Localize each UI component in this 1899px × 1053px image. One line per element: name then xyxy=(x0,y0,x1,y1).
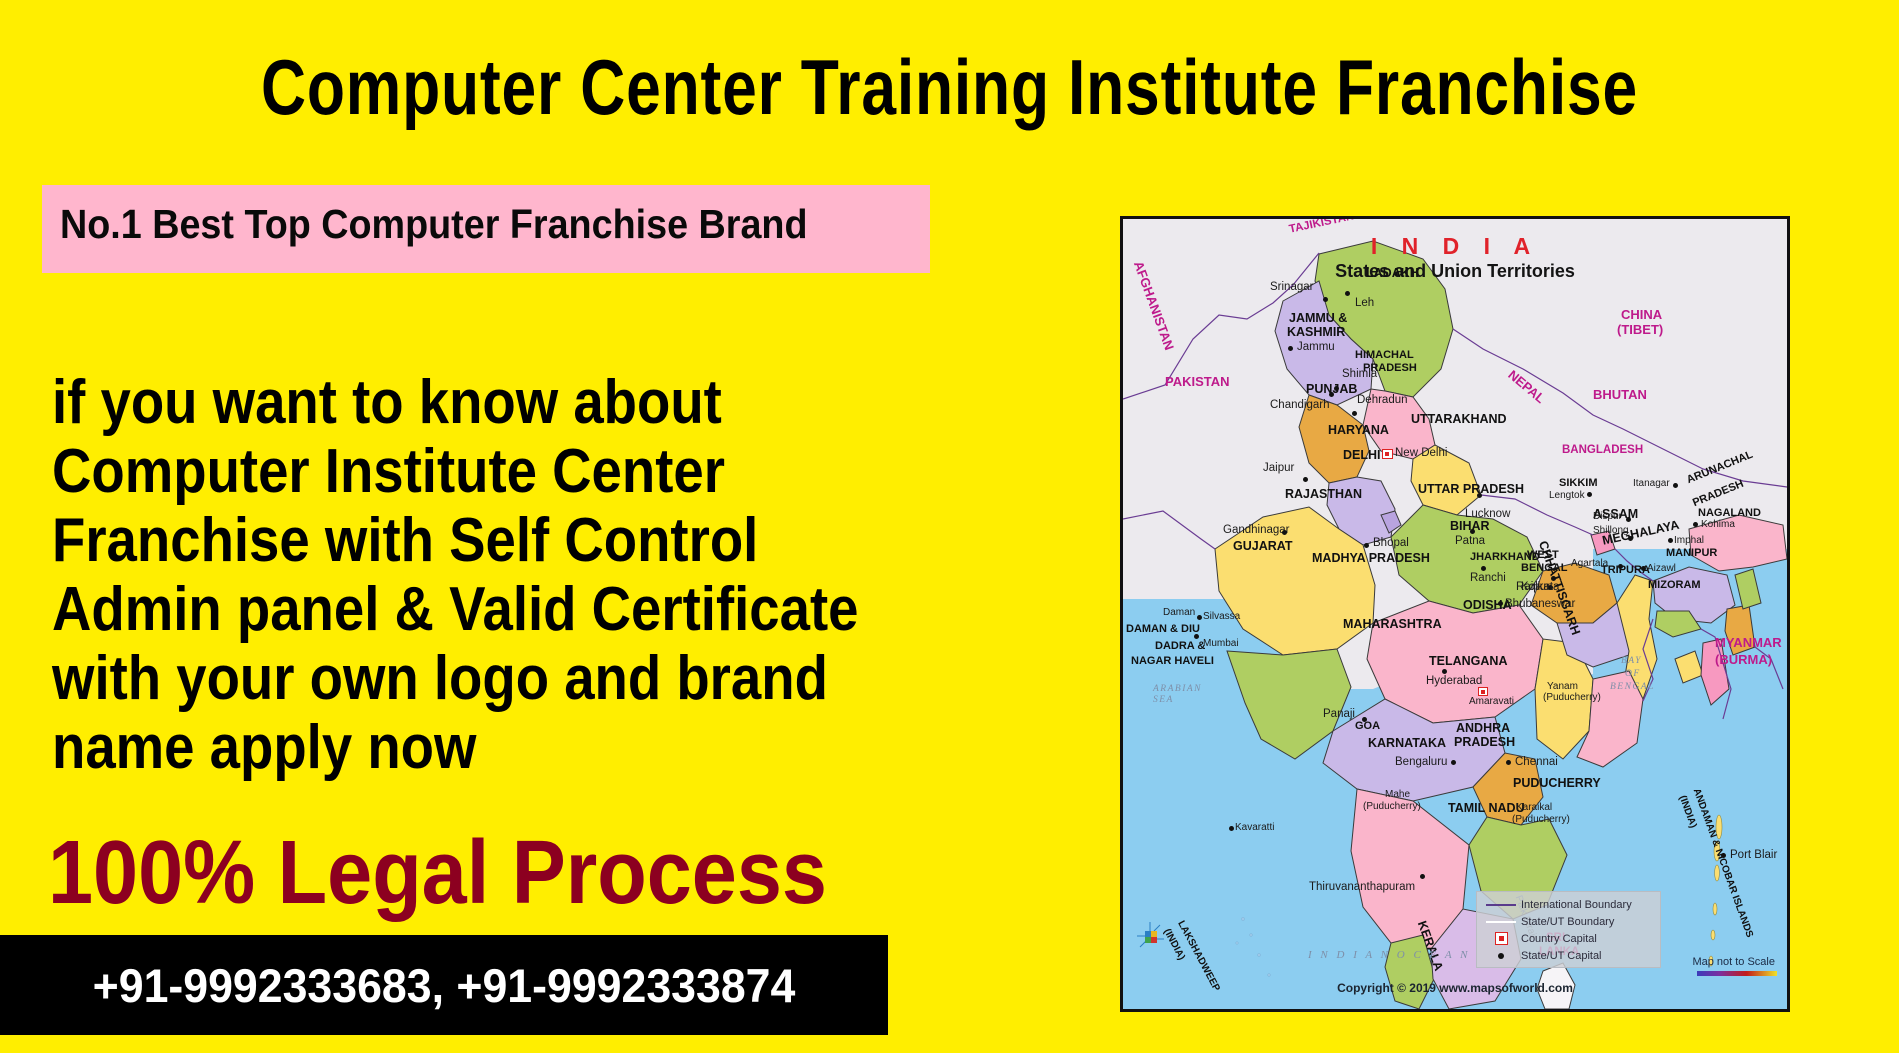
city-dot-thiruvananthapuram xyxy=(1420,874,1425,879)
city-dot-patna xyxy=(1470,529,1475,534)
city-dot-bhubaneswar xyxy=(1498,601,1503,606)
body-line: Admin panel & Valid Certificate xyxy=(52,575,958,644)
tagline-text: No.1 Best Top Computer Franchise Brand xyxy=(60,201,808,248)
map-copyright: Copyright © 2019 www.mapsofworld.com xyxy=(1123,981,1787,995)
city-dot-ranchi xyxy=(1481,566,1486,571)
city-dot-mumbai xyxy=(1194,634,1199,639)
city-dot-jaipur xyxy=(1303,477,1308,482)
city-dot-dispur xyxy=(1626,517,1631,522)
city-dot-srinagar xyxy=(1323,297,1328,302)
legend-label: State/UT Capital xyxy=(1521,950,1602,962)
city-dot-itanagar xyxy=(1673,483,1678,488)
legend-label: International Boundary xyxy=(1521,899,1632,911)
city-dot-bhopal xyxy=(1364,543,1369,548)
country-capital-icon xyxy=(1481,932,1521,945)
city-dot-panaji xyxy=(1362,717,1367,722)
legal-process-text: 100% Legal Process xyxy=(48,828,827,918)
city-dot-kolkata xyxy=(1551,576,1556,581)
legend-row-state-capital: State/UT Capital xyxy=(1481,947,1660,964)
city-dot-kavaratti xyxy=(1229,826,1234,831)
city-dot-chennai xyxy=(1506,760,1511,765)
city-dot-port-blair xyxy=(1721,853,1726,858)
city-dot-hyderabad xyxy=(1442,669,1447,674)
phone-numbers[interactable]: +91-9992333683, +91-9992333874 xyxy=(22,935,866,1035)
body-line: Franchise with Self Control xyxy=(52,506,958,575)
city-dot-shimla xyxy=(1334,386,1339,391)
city-dot-raipur xyxy=(1548,585,1553,590)
mapsofworld-logo-icon xyxy=(1133,919,1167,953)
legend-row-state-boundary: State/UT Boundary xyxy=(1481,913,1660,930)
scale-note: Map not to Scale xyxy=(1692,956,1775,968)
city-dot-jammu xyxy=(1288,346,1293,351)
legend-row-country-capital: Country Capital xyxy=(1481,930,1660,947)
city-dot-gandhinagar xyxy=(1282,530,1287,535)
india-map-graphic xyxy=(1123,219,1787,1009)
body-copy: if you want to know about Computer Insti… xyxy=(52,368,958,782)
phone-bar[interactable]: +91-9992333683, +91-9992333874 xyxy=(0,935,888,1035)
city-dot-dehradun xyxy=(1352,411,1357,416)
city-dot-silvassa xyxy=(1197,615,1202,620)
legend-row-international-boundary: International Boundary xyxy=(1481,896,1660,913)
state-capital-icon xyxy=(1481,953,1521,959)
body-line: name apply now xyxy=(52,713,958,782)
city-dot-leh xyxy=(1345,291,1350,296)
city-dot-lucknow xyxy=(1477,493,1482,498)
city-dot-kohima xyxy=(1693,522,1698,527)
city-dot-shillong xyxy=(1628,536,1633,541)
map-legend: International Boundary State/UT Boundary… xyxy=(1476,891,1661,968)
page-title: Computer Center Training Institute Franc… xyxy=(190,48,1709,126)
country-capital-marker-new-delhi xyxy=(1382,449,1393,459)
city-dot-imphal xyxy=(1668,538,1673,543)
tagline-banner: No.1 Best Top Computer Franchise Brand xyxy=(42,185,930,273)
city-dot-bengaluru xyxy=(1451,760,1456,765)
poster-canvas: Computer Center Training Institute Franc… xyxy=(0,0,1899,1053)
city-dot-lengtok xyxy=(1587,492,1592,497)
city-dot-aizawl xyxy=(1641,566,1646,571)
legend-label: Country Capital xyxy=(1521,933,1597,945)
state-capital-marker-amaravati xyxy=(1478,687,1488,696)
body-line: with your own logo and brand xyxy=(52,644,958,713)
city-dot-agartala xyxy=(1618,564,1623,569)
city-dot-chandigarh xyxy=(1329,392,1334,397)
legend-label: State/UT Boundary xyxy=(1521,916,1614,928)
body-line: Computer Institute Center xyxy=(52,437,958,506)
india-map: I N D I A States and Union Territories L… xyxy=(1120,216,1790,1012)
body-line: if you want to know about xyxy=(52,368,958,437)
scale-bar xyxy=(1697,971,1777,976)
international-boundary-icon xyxy=(1481,904,1521,906)
state-boundary-icon xyxy=(1481,921,1521,923)
